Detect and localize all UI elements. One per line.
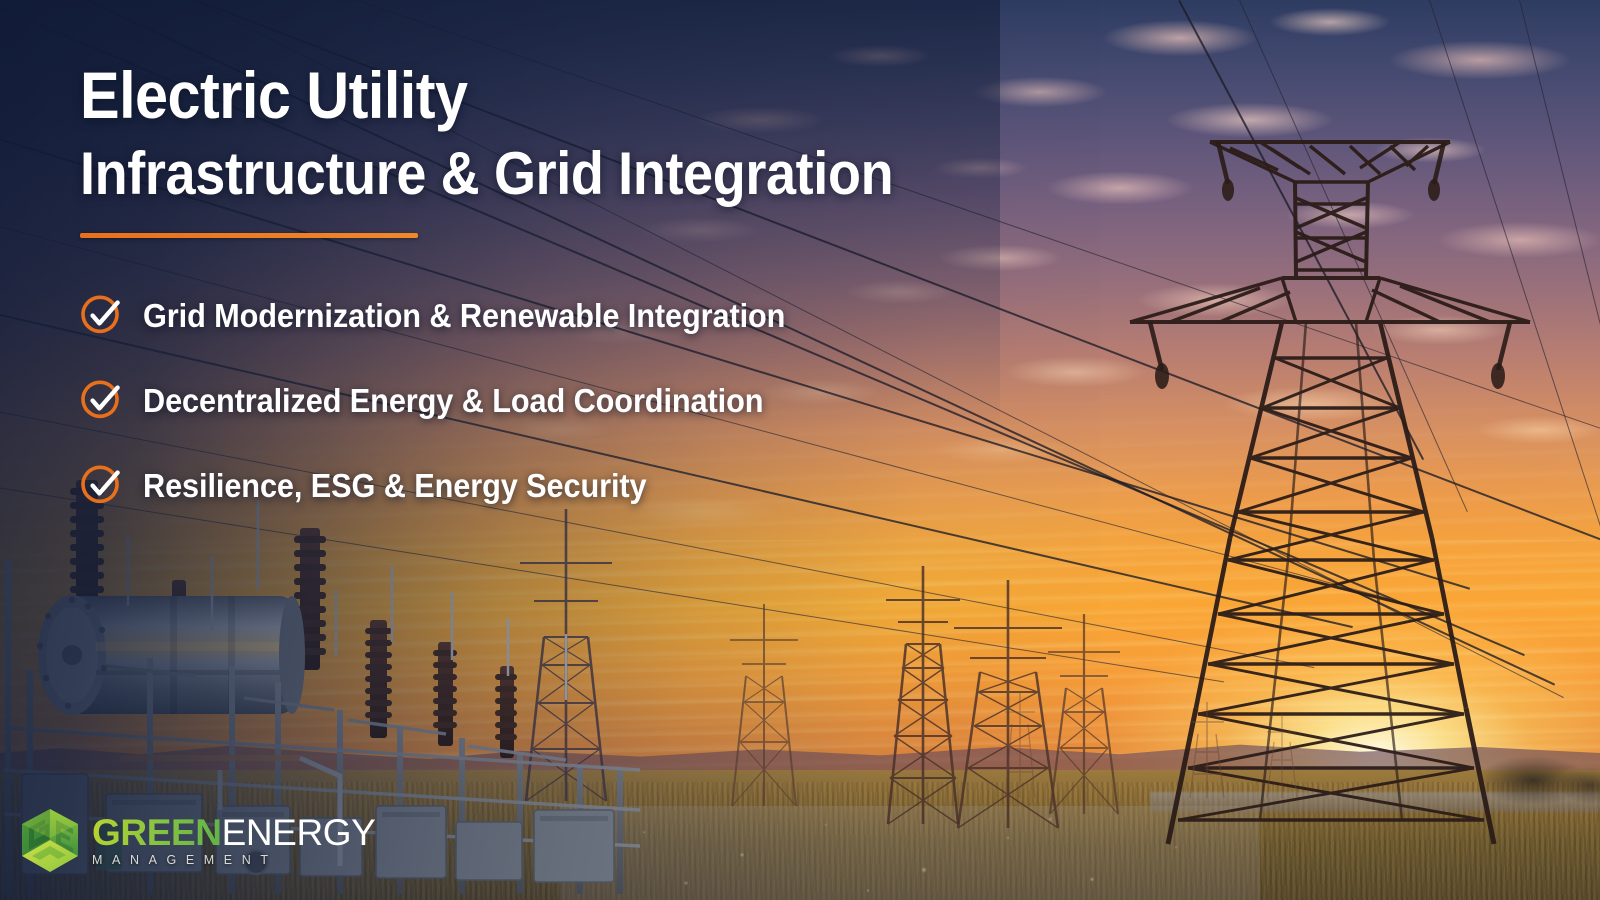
list-item: Grid Modernization & Renewable Integrati… (80, 292, 834, 338)
brand-word-row: GREENENERGY (92, 812, 375, 853)
bullet-list: Grid Modernization & Renewable Integrati… (80, 292, 834, 508)
accent-divider (80, 233, 418, 238)
page-title: Electric Utility Infrastructure & Grid I… (80, 62, 984, 204)
check-circle-icon (80, 463, 124, 507)
brand-word-primary: GREEN (92, 812, 222, 853)
slide-root: Electric Utility Infrastructure & Grid I… (0, 0, 1600, 900)
check-circle-icon (80, 293, 124, 337)
brand-tagline: MANAGEMENT (92, 854, 375, 867)
title-line-2: Infrastructure & Grid Integration (80, 144, 893, 204)
title-line-1: Electric Utility (80, 62, 893, 128)
list-item-label: Decentralized Energy & Load Coordination (143, 384, 763, 417)
check-circle-icon (80, 378, 124, 422)
slide-content: Electric Utility Infrastructure & Grid I… (0, 0, 1600, 900)
list-item: Decentralized Energy & Load Coordination (80, 377, 834, 423)
green-cube-icon (18, 806, 82, 874)
list-item-label: Grid Modernization & Renewable Integrati… (143, 299, 785, 332)
brand-word-secondary: ENERGY (222, 812, 376, 853)
list-item: Resilience, ESG & Energy Security (80, 462, 834, 508)
list-item-label: Resilience, ESG & Energy Security (143, 469, 647, 502)
brand-logo: GREENENERGY MANAGEMENT (18, 806, 375, 874)
brand-wordmark: GREENENERGY MANAGEMENT (92, 814, 375, 867)
